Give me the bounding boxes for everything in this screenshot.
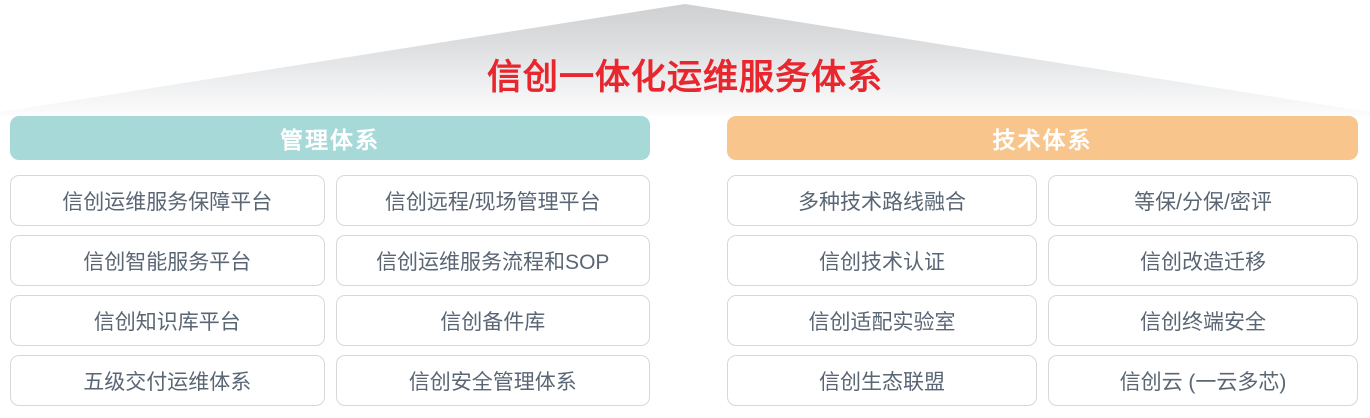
list-item[interactable]: 信创技术认证 bbox=[727, 235, 1037, 286]
list-item[interactable]: 信创云 (一云多芯) bbox=[1048, 355, 1358, 406]
panel-technical-header: 技术体系 bbox=[727, 116, 1358, 160]
list-item[interactable]: 信创改造迁移 bbox=[1048, 235, 1358, 286]
list-item[interactable]: 信创远程/现场管理平台 bbox=[336, 175, 651, 226]
list-item[interactable]: 信创运维服务保障平台 bbox=[10, 175, 325, 226]
list-item[interactable]: 信创知识库平台 bbox=[10, 295, 325, 346]
list-item[interactable]: 信创适配实验室 bbox=[727, 295, 1037, 346]
page-title: 信创一体化运维服务体系 bbox=[0, 56, 1370, 100]
panel-management: 管理体系 信创运维服务保障平台 信创远程/现场管理平台 信创智能服务平台 信创运… bbox=[10, 116, 650, 406]
list-item[interactable]: 等保/分保/密评 bbox=[1048, 175, 1358, 226]
panel-management-header: 管理体系 bbox=[10, 116, 650, 160]
list-item[interactable]: 信创安全管理体系 bbox=[336, 355, 651, 406]
list-item[interactable]: 五级交付运维体系 bbox=[10, 355, 325, 406]
panel-technical-grid: 多种技术路线融合 等保/分保/密评 信创技术认证 信创改造迁移 信创适配实验室 … bbox=[727, 175, 1358, 406]
list-item[interactable]: 信创运维服务流程和SOP bbox=[336, 235, 651, 286]
list-item[interactable]: 信创生态联盟 bbox=[727, 355, 1037, 406]
list-item[interactable]: 信创终端安全 bbox=[1048, 295, 1358, 346]
list-item[interactable]: 信创备件库 bbox=[336, 295, 651, 346]
list-item[interactable]: 多种技术路线融合 bbox=[727, 175, 1037, 226]
list-item[interactable]: 信创智能服务平台 bbox=[10, 235, 325, 286]
panel-management-grid: 信创运维服务保障平台 信创远程/现场管理平台 信创智能服务平台 信创运维服务流程… bbox=[10, 175, 650, 406]
panel-technical: 技术体系 多种技术路线融合 等保/分保/密评 信创技术认证 信创改造迁移 信创适… bbox=[727, 116, 1358, 406]
